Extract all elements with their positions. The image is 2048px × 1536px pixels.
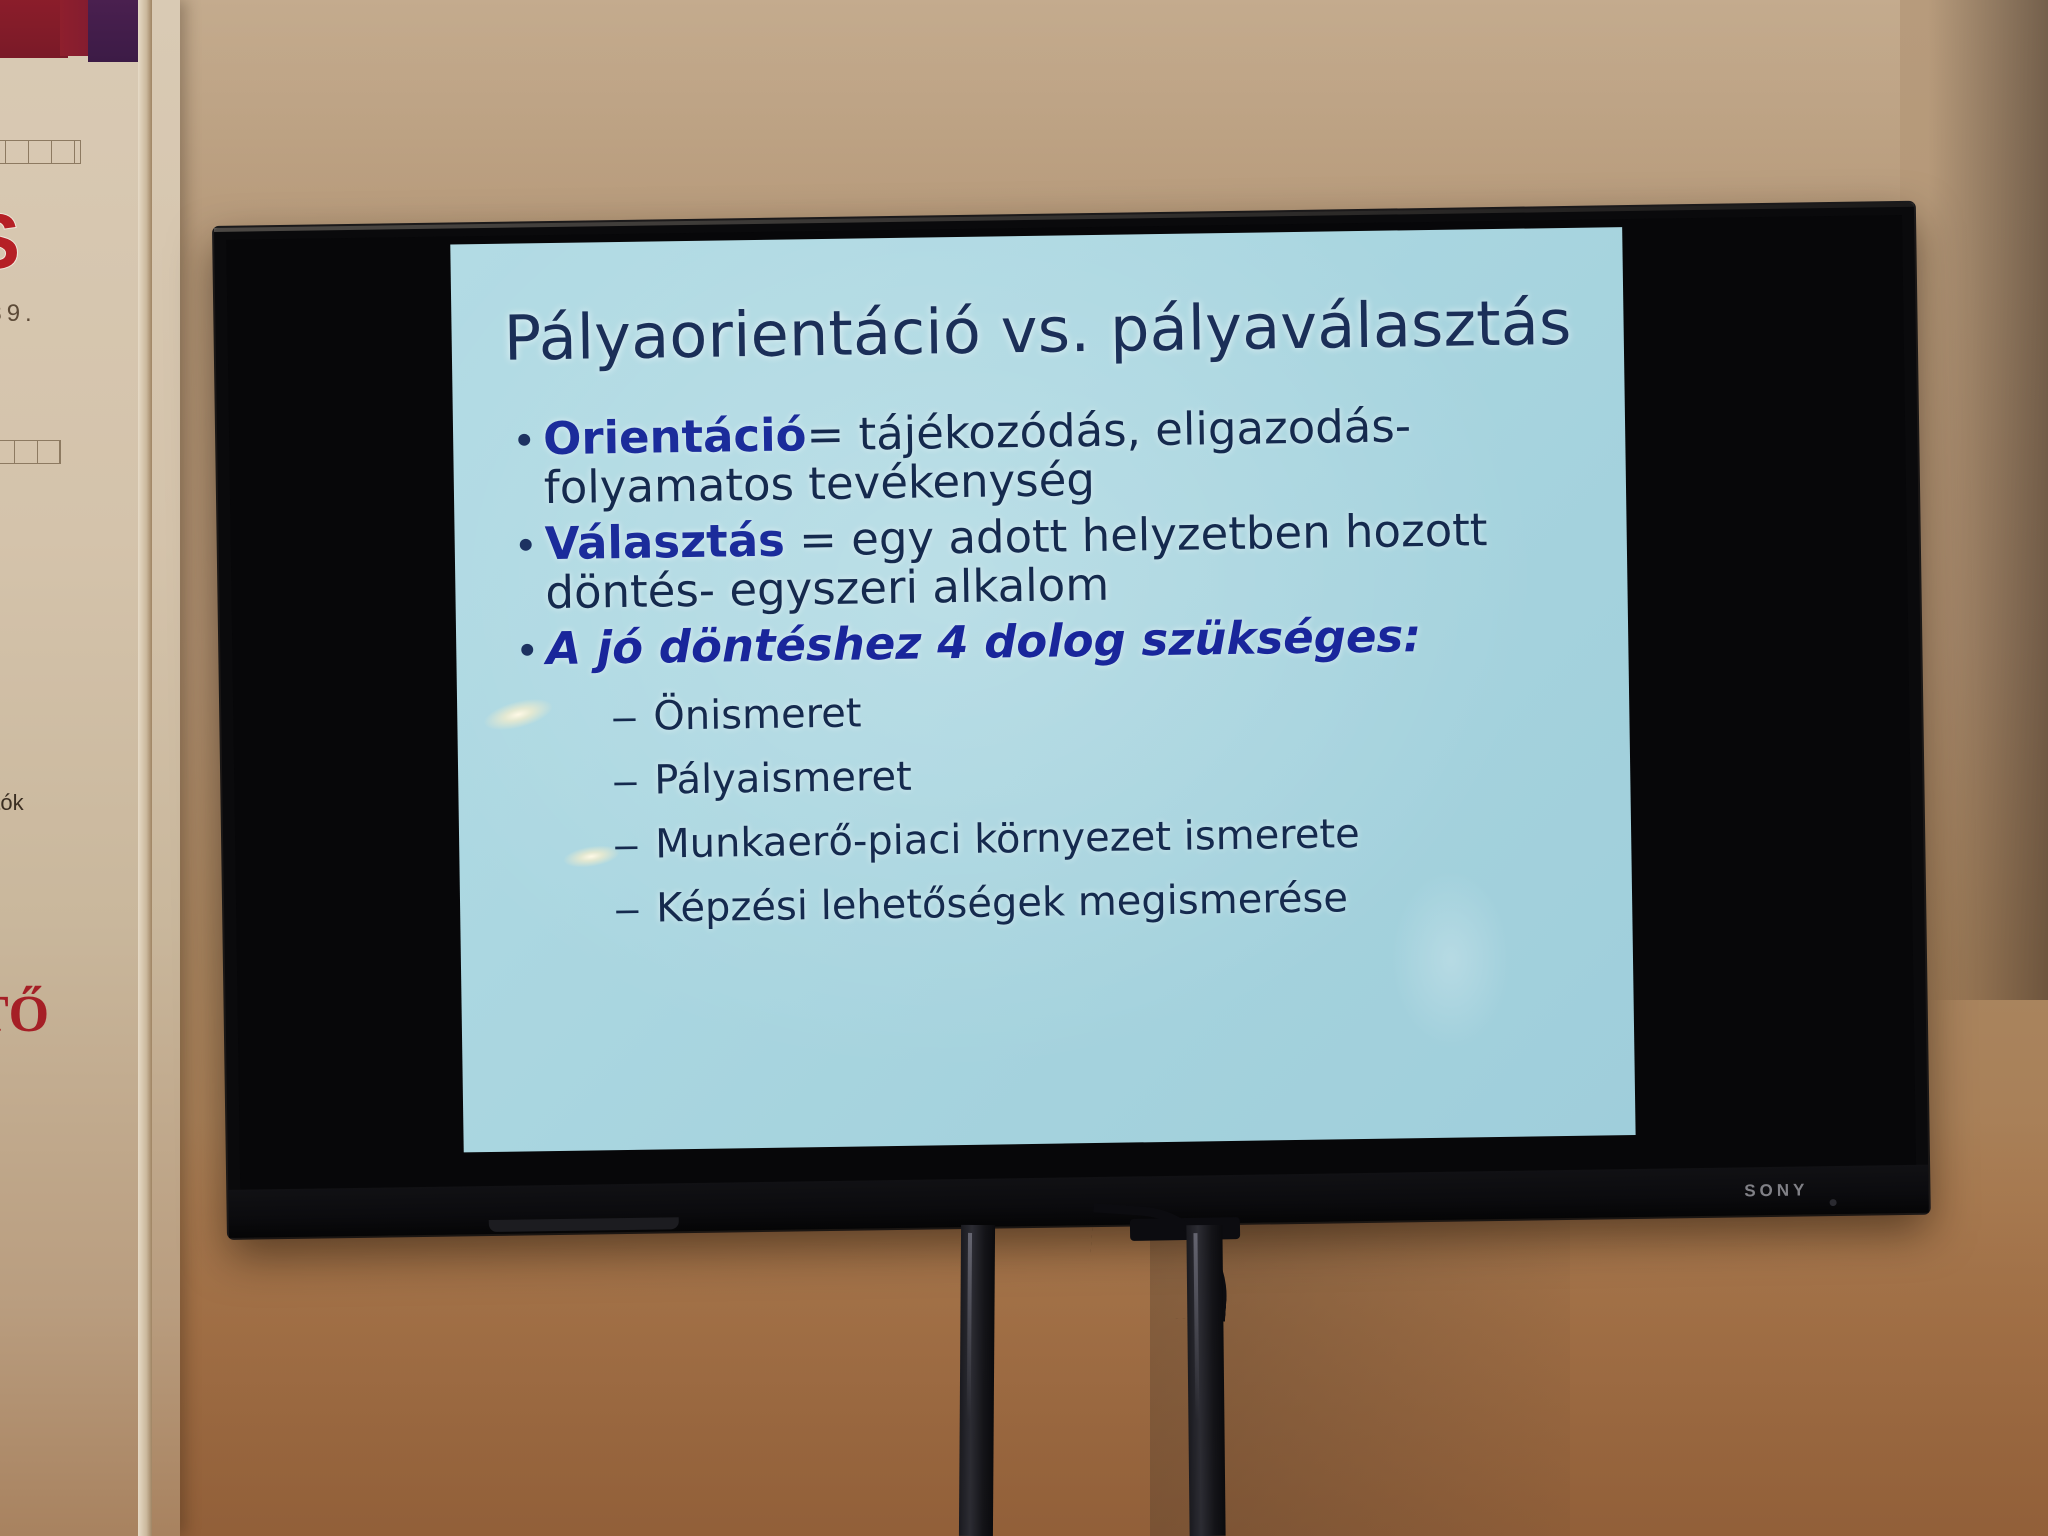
sub-item-label: Munkaerő-piaci környezet ismerete (655, 811, 1360, 867)
sub-item-kepzesi: – Képzési lehetőségek megismerése (616, 872, 1603, 933)
dash-marker-icon: – (615, 823, 656, 869)
stand-pole-left (959, 1225, 995, 1536)
left-poster-panel: S 989. atók TŐ (0, 0, 180, 1536)
wall-right-shadow (1928, 0, 2048, 1000)
poster-maroon-block (0, 0, 68, 58)
bullet-keyword-valasztas: Választás (544, 514, 785, 571)
slide-sub-list: – Önismeret – Pályaismeret – Munkaerő-pi… (613, 680, 1602, 933)
sub-item-palyaismeret: – Pályaismeret (614, 744, 1601, 805)
bullet-marker-icon: • (506, 514, 545, 577)
bullet-text-valasztas: Választás = egy adott helyzetben hozott … (544, 499, 1597, 618)
poster-text-fragment-to: TŐ (0, 985, 49, 1044)
poster-word-fragment: S (0, 196, 18, 287)
bullet-item-valasztas: • Választás = egy adott helyzetben hozot… (506, 499, 1597, 618)
bullet-marker-icon: • (505, 409, 544, 472)
pole-highlight (967, 1233, 972, 1420)
pole-highlight (1193, 1233, 1199, 1420)
poster-dashed-row-mid (0, 440, 61, 464)
sub-item-label: Képzési lehetőségek megismerése (656, 876, 1348, 932)
dash-marker-icon: – (614, 759, 655, 805)
slide-body: • Orientáció= tájékozódás, eligazodás- f… (505, 394, 1603, 952)
presentation-room-photo: S 989. atók TŐ Pályaorientáció vs. pálya… (0, 0, 2048, 1536)
bullet-marker-icon: • (508, 619, 547, 682)
poster-dashed-row-top (0, 140, 81, 164)
dash-marker-icon: – (613, 695, 654, 741)
tv-display-panel: Pályaorientáció vs. pályaválasztás • Ori… (226, 215, 1916, 1192)
dash-marker-icon: – (616, 887, 657, 933)
tv-brand-logo: SONY (1744, 1180, 1808, 1201)
ir-receiver-icon (1830, 1199, 1837, 1206)
slide-title: Pályaorientáció vs. pályaválasztás (451, 285, 1624, 375)
bullet-text-dontes: A jó döntéshez 4 dolog szükséges: (546, 607, 1422, 675)
poster-edge-seam (138, 0, 152, 1536)
poster-year-fragment: 989. (0, 300, 37, 328)
sub-item-onismeret: – Önismeret (613, 680, 1600, 741)
bullet-item-orientacio: • Orientáció= tájékozódás, eligazodás- f… (505, 394, 1596, 513)
sub-item-label: Pályaismeret (654, 754, 912, 804)
bullet-text-orientacio: Orientáció= tájékozódás, eligazodás- fol… (543, 394, 1596, 513)
television: Pályaorientáció vs. pályaválasztás • Ori… (214, 203, 1929, 1238)
poster-text-fragment-atok: atók (0, 790, 24, 816)
sub-item-munkaero: – Munkaerő-piaci környezet ismerete (615, 808, 1602, 869)
tv-chin-notch (489, 1217, 679, 1232)
stand-pole-right (1186, 1225, 1225, 1536)
presentation-slide: Pályaorientáció vs. pályaválasztás • Ori… (450, 227, 1635, 1152)
sub-item-label: Önismeret (653, 691, 862, 740)
